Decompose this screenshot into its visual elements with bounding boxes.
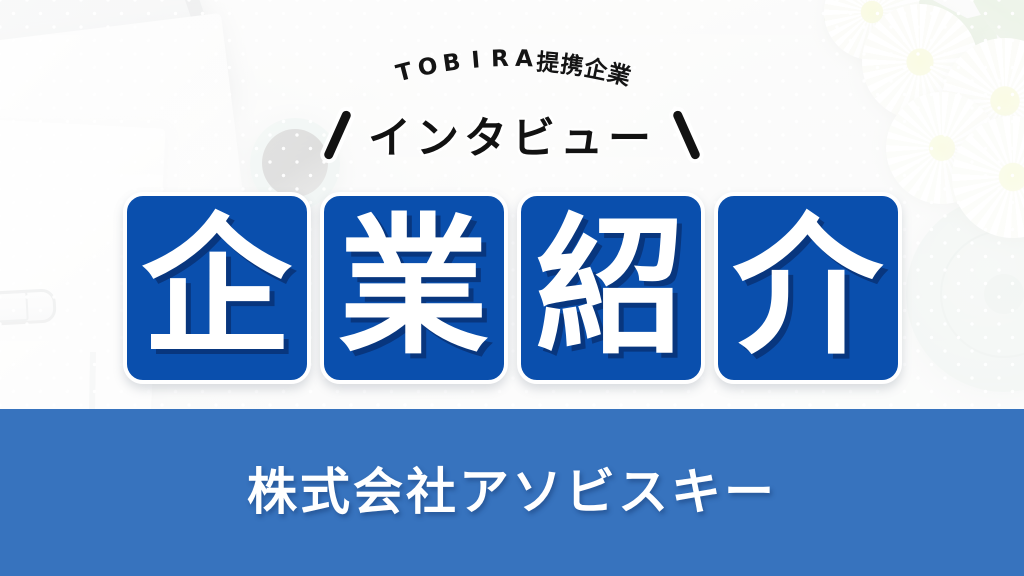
banner-image: TOBIRA提携企業 インタビュー 企業紹介 株式会社アソビスキー (0, 0, 1024, 576)
title-tile-char: 紹 (535, 213, 685, 363)
subtitle-text: インタビュー (368, 104, 656, 166)
title-tile: 業 (320, 192, 508, 384)
slash-left-icon (323, 109, 352, 160)
title-tile-char: 企 (141, 213, 291, 363)
subtitle-row: インタビュー (0, 104, 1024, 166)
slash-right-icon (672, 109, 701, 160)
title-tile: 企 (123, 192, 311, 384)
title-tile: 紹 (517, 192, 705, 384)
title-tile: 介 (714, 192, 902, 384)
title-tile-char: 介 (732, 213, 882, 363)
title-tile-char: 業 (338, 213, 488, 363)
title-tile-row: 企業紹介 (0, 190, 1024, 386)
company-name: 株式会社アソビスキー (0, 452, 1024, 524)
